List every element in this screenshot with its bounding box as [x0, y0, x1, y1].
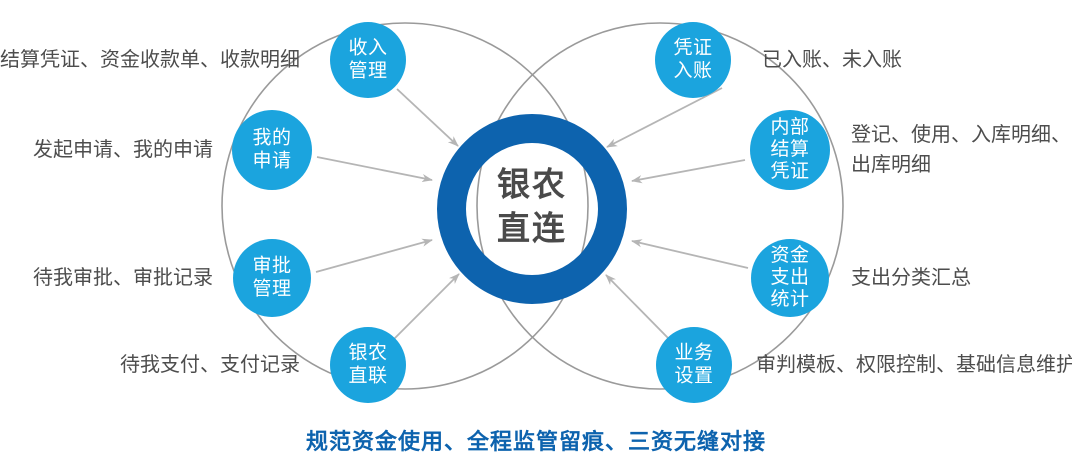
- orbit-circles: [222, 23, 843, 389]
- node-label-expenditure-statistics-line-1: 资金: [770, 244, 809, 266]
- desc-internal-settlement-voucher: 登记、使用、入库明细、出库明细: [851, 120, 1072, 180]
- desc-voucher-entry: 已入账、未入账: [762, 45, 1062, 75]
- node-label-expenditure-statistics-line-2: 支出: [770, 266, 809, 288]
- arrow-business-settings: [606, 275, 668, 338]
- node-internal-settlement-voucher[interactable]: 内部结算凭证: [750, 110, 830, 190]
- node-label-income-management-line-1: 收入: [348, 37, 387, 59]
- node-label-voucher-entry-line-1: 凭证: [673, 37, 712, 59]
- arrow-income-management: [397, 89, 458, 146]
- desc-expenditure-statistics: 支出分类汇总: [851, 263, 1072, 293]
- diagram-canvas: 银农直连 收入管理我的申请审批管理银农直联凭证入账内部结算凭证资金支出统计业务设…: [0, 0, 1072, 471]
- desc-my-application: 发起申请、我的申请: [0, 135, 213, 165]
- node-income-management[interactable]: 收入管理: [330, 22, 406, 98]
- node-my-application[interactable]: 我的申请: [232, 110, 312, 190]
- arrow-voucher-entry: [607, 88, 722, 147]
- node-expenditure-statistics[interactable]: 资金支出统计: [751, 239, 829, 317]
- orbit-left: [222, 23, 588, 389]
- node-label-internal-settlement-voucher-line-1: 内部: [770, 116, 809, 138]
- node-approval-management[interactable]: 审批管理: [233, 239, 311, 317]
- desc-business-settings: 审判模板、权限控制、基础信息维护: [756, 350, 1072, 380]
- node-label-expenditure-statistics-line-3: 统计: [770, 288, 809, 310]
- desc-bank-farm-direct: 待我支付、支付记录: [0, 350, 300, 380]
- node-label-internal-settlement-voucher-line-2: 结算: [770, 138, 809, 160]
- caption-text: 规范资金使用、全程监管留痕、三资无缝对接: [0, 424, 1072, 456]
- node-voucher-entry[interactable]: 凭证入账: [655, 22, 731, 98]
- arrow-expenditure-statistics: [632, 241, 748, 268]
- center-label-line-2: 直连: [497, 210, 567, 247]
- node-label-my-application-line-2: 申请: [252, 150, 291, 172]
- node-label-approval-management-line-2: 管理: [252, 278, 291, 300]
- desc-income-management: 结算凭证、资金收款单、收款明细: [0, 45, 300, 75]
- node-label-voucher-entry-line-2: 入账: [673, 60, 712, 82]
- arrow-bank-farm-direct: [394, 274, 459, 339]
- node-label-bank-farm-direct-line-2: 直联: [348, 365, 387, 387]
- node-label-business-settings-line-1: 业务: [674, 342, 713, 364]
- node-bank-farm-direct[interactable]: 银农直联: [330, 327, 406, 403]
- node-label-my-application-line-1: 我的: [252, 127, 291, 149]
- arrow-internal-settlement-voucher: [632, 160, 745, 181]
- node-label-bank-farm-direct-line-1: 银农: [348, 342, 387, 364]
- center-label-line-1: 银农: [497, 166, 567, 203]
- desc-approval-management: 待我审批、审批记录: [0, 263, 213, 293]
- arrow-approval-management: [316, 240, 432, 272]
- node-label-business-settings-line-2: 设置: [674, 365, 713, 387]
- arrow-my-application: [317, 157, 432, 180]
- node-label-approval-management-line-1: 审批: [252, 255, 291, 277]
- node-label-income-management-line-2: 管理: [348, 60, 387, 82]
- node-business-settings[interactable]: 业务设置: [656, 327, 732, 403]
- node-label-internal-settlement-voucher-line-3: 凭证: [770, 160, 809, 182]
